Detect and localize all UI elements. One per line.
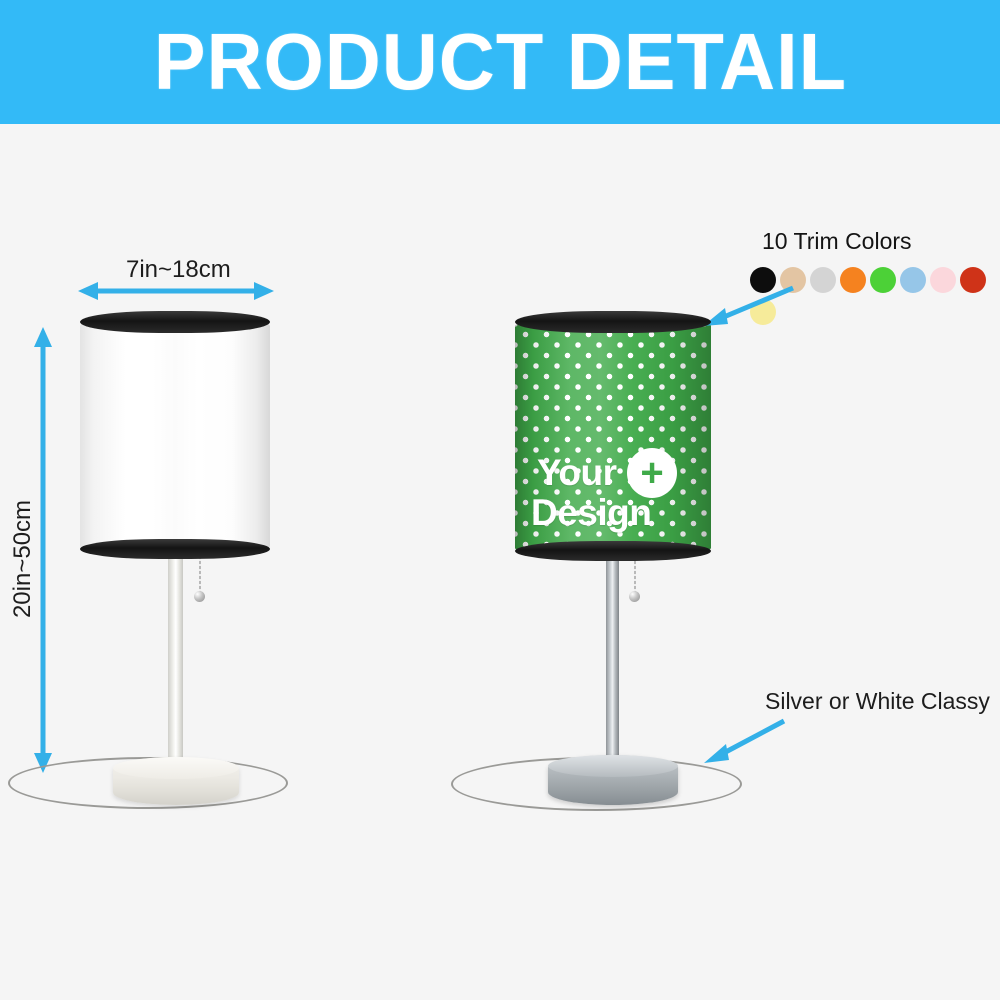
lamp-base-top <box>548 755 678 777</box>
trim-swatch-light-gray[interactable] <box>810 267 836 293</box>
white-lampshade <box>80 311 270 560</box>
shade-bottom-trim <box>80 539 270 559</box>
lamp-base-top <box>113 757 239 779</box>
base-finish-label: Silver or White Classy <box>765 688 990 715</box>
green-lampshade: Your + Design <box>515 311 711 560</box>
trim-swatch-pink[interactable] <box>930 267 956 293</box>
shade-surface: Your + Design <box>515 324 711 550</box>
shade-surface <box>80 324 270 548</box>
design-text-line-2: Design <box>531 494 651 532</box>
trim-swatch-light-blue[interactable] <box>900 267 926 293</box>
width-dimension-arrow <box>76 277 276 305</box>
trim-swatch-red[interactable] <box>960 267 986 293</box>
shade-top-trim <box>80 311 270 333</box>
trim-colors-title: 10 Trim Colors <box>762 228 1000 255</box>
add-design-icon[interactable]: + <box>627 448 677 498</box>
trim-colors-pointer-arrow <box>695 282 805 342</box>
shade-bottom-trim <box>515 541 711 561</box>
pull-chain-ball[interactable] <box>629 591 640 602</box>
base-finish-pointer-arrow <box>698 715 794 775</box>
height-dimension-arrow <box>29 325 57 775</box>
trim-swatch-orange[interactable] <box>840 267 866 293</box>
plus-symbol: + <box>640 456 663 490</box>
lamp-pole <box>168 556 183 772</box>
pull-chain[interactable] <box>199 556 201 596</box>
pull-chain-ball[interactable] <box>194 591 205 602</box>
lamp-pole <box>606 556 619 772</box>
lamp-base <box>113 757 239 805</box>
shade-top-trim <box>515 311 711 333</box>
design-text-line-1: Your <box>537 454 617 492</box>
trim-swatch-green[interactable] <box>870 267 896 293</box>
green-custom-lamp: Your + Design <box>430 0 770 1000</box>
lamp-base <box>548 755 678 805</box>
pull-chain[interactable] <box>634 556 636 596</box>
